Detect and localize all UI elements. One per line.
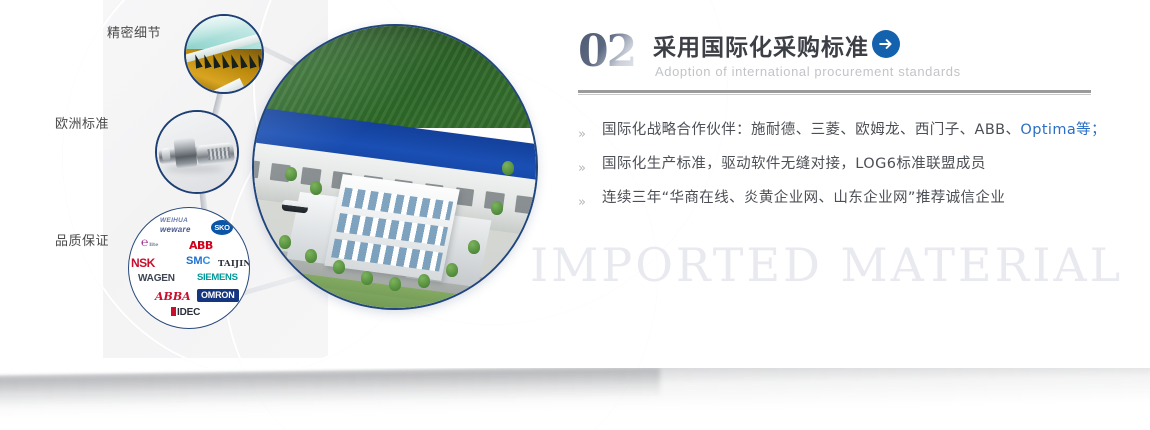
factory-aerial-photo bbox=[252, 24, 538, 310]
logo-nsk: NSK bbox=[131, 257, 155, 269]
logo-sko: SKO bbox=[211, 220, 233, 235]
chevron-double-right-icon: » bbox=[578, 128, 586, 141]
arrow-right-circle-icon[interactable] bbox=[872, 30, 900, 58]
section-header: 02 采用国际化采购标准 Adoption of international p… bbox=[578, 24, 1098, 86]
list-item-text: 国际化生产标准，驱动软件无缝对接，LOG6标准联盟成员 bbox=[602, 156, 986, 172]
banner-stage: 精密细节 欧洲标准 品质保证 WEIHUAweware SKO ℮lite AB… bbox=[0, 0, 1150, 430]
watermark-text: IMPORTED MATERIAL bbox=[530, 238, 1123, 292]
header-divider bbox=[578, 90, 1091, 95]
logo-abba: ABBA bbox=[155, 291, 191, 302]
logo-weihua: WEIHUAweware bbox=[160, 218, 191, 234]
logo-omron: OMRON bbox=[197, 289, 239, 302]
logo-siemens: SIEMENS bbox=[197, 273, 238, 283]
page-title: 采用国际化采购标准 bbox=[653, 28, 869, 62]
label-precision-detail: 精密细节 bbox=[107, 22, 161, 41]
label-european-standard: 欧洲标准 bbox=[55, 113, 109, 132]
quality-brand-logos-photo: WEIHUAweware SKO ℮lite ABB NSK SMC TAIJI… bbox=[128, 207, 250, 329]
precision-detail-photo bbox=[184, 14, 264, 94]
list-item-text: 连续三年“华商在线、炎黄企业网、山东企业网”推荐诚信企业 bbox=[602, 190, 1005, 206]
logo-taijing: TAIJING bbox=[218, 260, 250, 269]
section-number: 02 bbox=[578, 26, 635, 77]
logo-idec: IDEC bbox=[171, 307, 200, 318]
label-quality-assurance: 品质保证 bbox=[55, 230, 109, 249]
bottom-shadow-band bbox=[0, 368, 1150, 430]
logo-abb: ABB bbox=[189, 240, 213, 251]
feature-list: » 国际化战略合作伙伴：施耐德、三菱、欧姆龙、西门子、ABB、Optima等； … bbox=[578, 120, 1098, 222]
chevron-double-right-icon: » bbox=[578, 196, 586, 209]
logo-elite: ℮lite bbox=[141, 236, 159, 248]
list-item-text: 国际化战略合作伙伴：施耐德、三菱、欧姆龙、西门子、ABB、Optima等； bbox=[602, 122, 1106, 138]
content-column: 02 采用国际化采购标准 Adoption of international p… bbox=[578, 24, 1098, 86]
chevron-double-right-icon: » bbox=[578, 162, 586, 175]
list-item-highlight: Optima等； bbox=[1020, 122, 1106, 138]
section-subtitle: Adoption of international procurement st… bbox=[655, 64, 961, 79]
logo-wagen: WAGEN bbox=[138, 274, 175, 284]
list-item: » 连续三年“华商在线、炎黄企业网、山东企业网”推荐诚信企业 bbox=[578, 188, 1098, 222]
list-item: » 国际化生产标准，驱动软件无缝对接，LOG6标准联盟成员 bbox=[578, 154, 1098, 188]
logo-smc: SMC bbox=[186, 256, 210, 267]
european-standard-photo bbox=[155, 110, 239, 194]
list-item: » 国际化战略合作伙伴：施耐德、三菱、欧姆龙、西门子、ABB、Optima等； bbox=[578, 120, 1098, 154]
